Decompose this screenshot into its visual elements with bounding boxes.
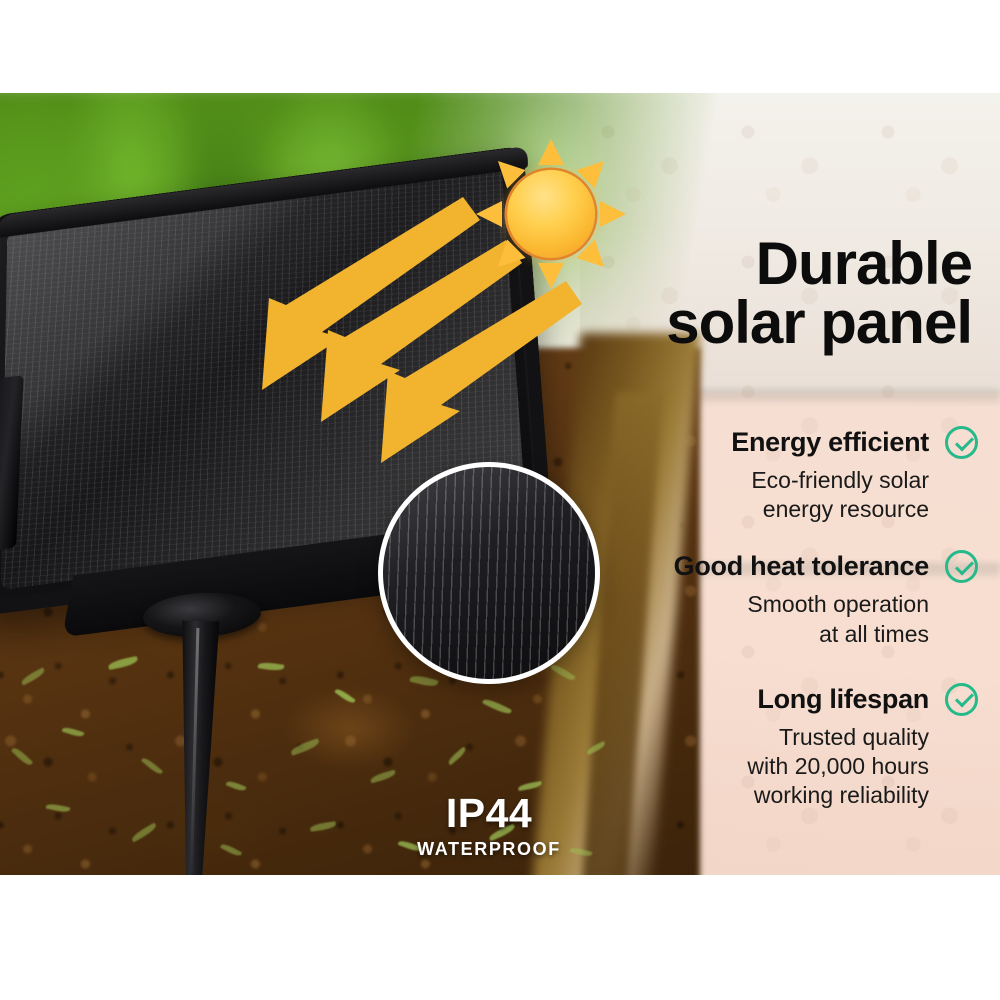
feature-description: Smooth operationat all times <box>508 590 978 648</box>
feature-description-line: Trusted quality <box>508 723 929 752</box>
weed-sprig <box>447 747 468 766</box>
feature-list: Energy efficientEco-friendly solarenergy… <box>508 426 978 836</box>
feature-description-line: with 20,000 hours <box>508 752 929 781</box>
weed-sprig <box>11 746 33 768</box>
feature-heading: Good heat tolerance <box>508 550 978 583</box>
weed-sprig <box>130 822 158 842</box>
weed-sprig <box>370 770 397 784</box>
weed-sprig <box>141 756 163 776</box>
weed-sprig <box>46 803 71 814</box>
weed-sprig <box>62 726 85 739</box>
feature-item: Good heat toleranceSmooth operationat al… <box>508 550 978 648</box>
feature-description-line: Eco-friendly solar <box>508 466 929 495</box>
weed-sprig <box>220 842 242 858</box>
feature-description-line: energy resource <box>508 495 929 524</box>
headline-line-1: Durable <box>452 235 972 294</box>
weed-sprig <box>290 738 321 756</box>
page-title: Durable solar panel <box>452 235 972 353</box>
ip-label: WATERPROOF <box>372 839 606 860</box>
product-banner: IP44 WATERPROOF Durable solar panel Ener… <box>0 0 1000 1000</box>
weed-sprig <box>334 687 355 705</box>
feature-title: Good heat tolerance <box>674 551 929 582</box>
feature-description-line: at all times <box>508 620 929 649</box>
feature-description-line: Smooth operation <box>508 590 929 619</box>
feature-title: Energy efficient <box>731 427 929 458</box>
feature-item: Long lifespanTrusted qualitywith 20,000 … <box>508 683 978 811</box>
check-circle-icon <box>945 426 978 459</box>
weed-sprig <box>226 779 247 792</box>
feature-description: Trusted qualitywith 20,000 hoursworking … <box>508 723 978 811</box>
sun-ray <box>538 139 564 165</box>
feature-title: Long lifespan <box>757 684 929 715</box>
feature-item: Energy efficientEco-friendly solarenergy… <box>508 426 978 524</box>
feature-heading: Energy efficient <box>508 426 978 459</box>
sun-ray <box>476 201 502 227</box>
top-white-band <box>0 0 1000 93</box>
feature-heading: Long lifespan <box>508 683 978 716</box>
check-circle-icon <box>945 683 978 716</box>
bottom-white-band <box>0 875 1000 1000</box>
feature-description-line: working reliability <box>508 781 929 810</box>
headline-line-2: solar panel <box>452 294 972 353</box>
weed-sprig <box>310 821 337 832</box>
product-photo: IP44 WATERPROOF Durable solar panel Ener… <box>0 93 1000 875</box>
check-circle-icon <box>945 550 978 583</box>
sun-ray <box>600 201 626 227</box>
feature-description: Eco-friendly solarenergy resource <box>508 466 978 524</box>
